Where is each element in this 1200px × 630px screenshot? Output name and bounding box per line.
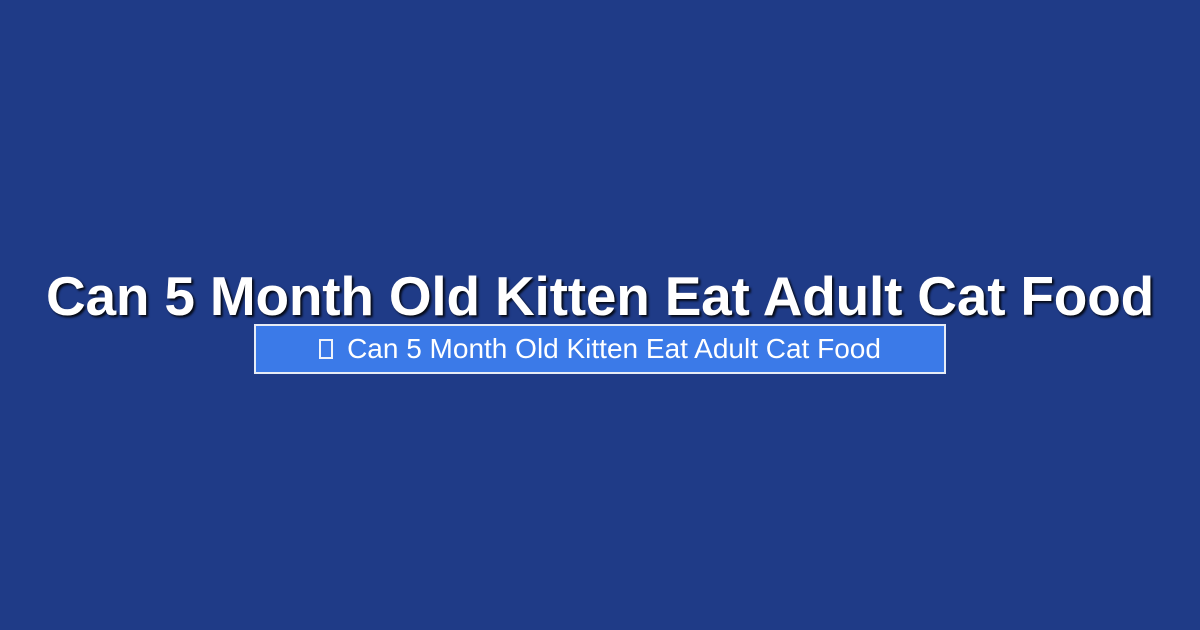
cta-button-label: Can 5 Month Old Kitten Eat Adult Cat Foo… <box>347 334 881 364</box>
page-title: Can 5 Month Old Kitten Eat Adult Cat Foo… <box>0 265 1200 327</box>
cta-container: Can 5 Month Old Kitten Eat Adult Cat Foo… <box>0 324 1200 374</box>
missing-glyph-tofu-icon <box>319 339 333 359</box>
open-graph-card: Can 5 Month Old Kitten Eat Adult Cat Foo… <box>0 0 1200 630</box>
cta-content: Can 5 Month Old Kitten Eat Adult Cat Foo… <box>319 334 881 364</box>
cta-link-button[interactable]: Can 5 Month Old Kitten Eat Adult Cat Foo… <box>254 324 946 374</box>
